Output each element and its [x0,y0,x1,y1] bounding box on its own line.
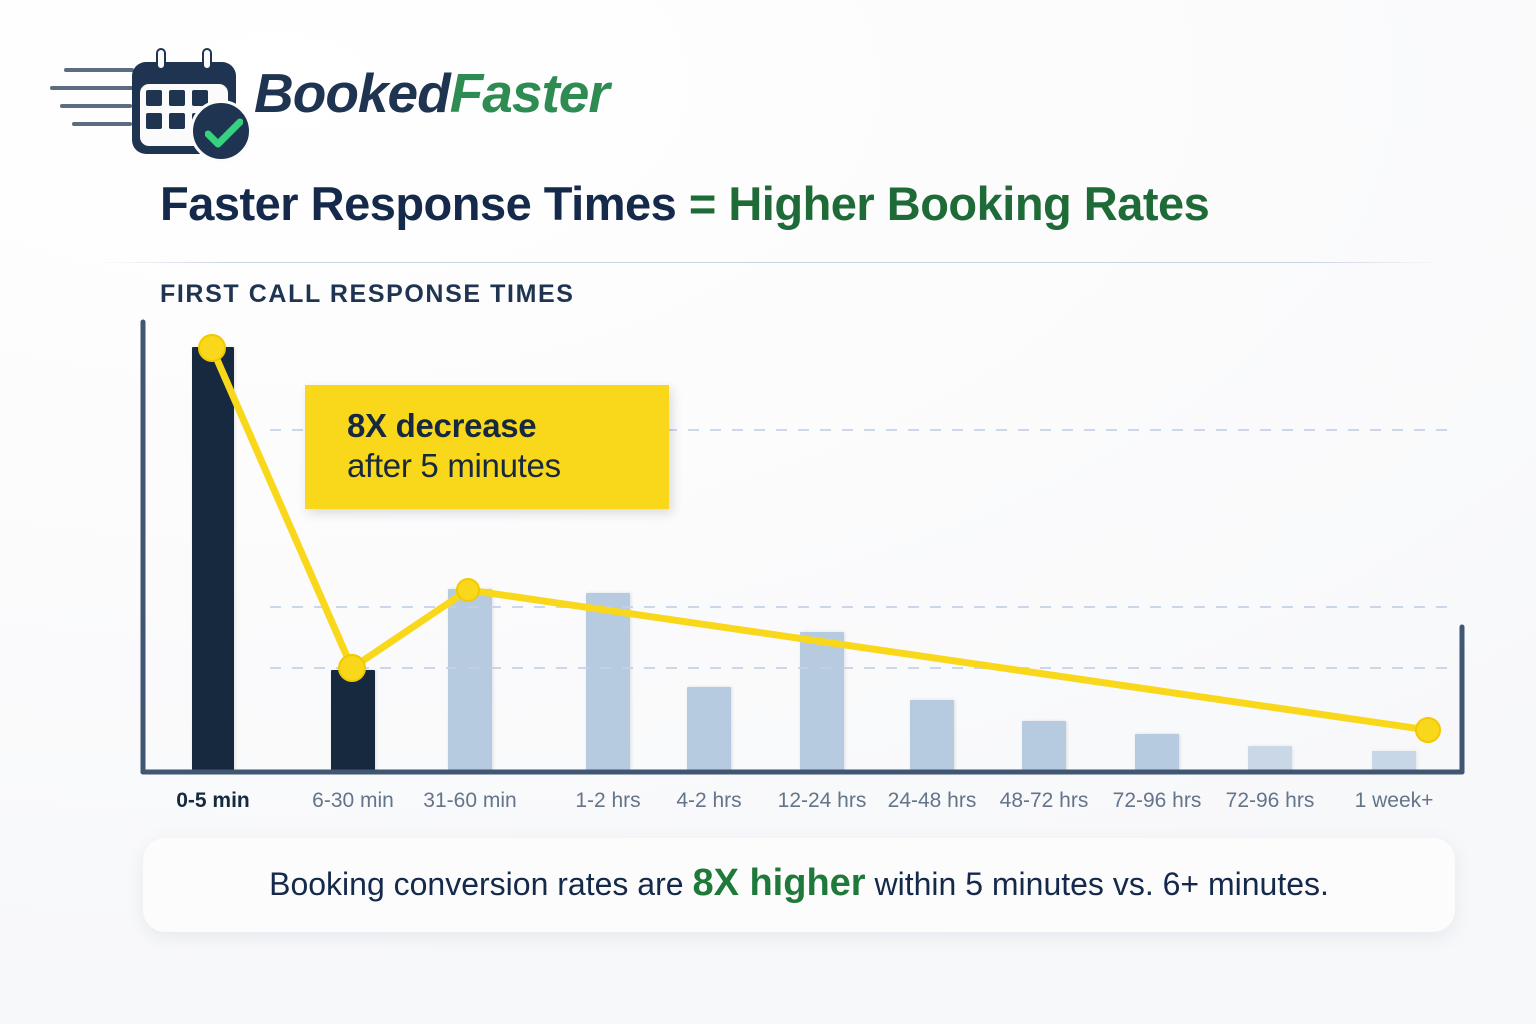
caption-highlight: 8X higher [692,862,865,904]
bar-series [0,0,1536,772]
caption-before: Booking conversion rates are [269,866,692,902]
bar-4 [586,593,630,772]
bar-10 [1248,746,1292,772]
caption-card: Booking conversion rates are 8X higher w… [143,838,1455,932]
bar-7 [910,700,954,772]
x-label-8: 48-72 hrs [1000,789,1089,813]
caption-text: Booking conversion rates are 8X higher w… [143,862,1455,905]
x-label-1: 0-5 min [176,789,250,813]
bar-2 [331,670,375,772]
x-label-2: 6-30 min [312,789,394,813]
bar-9 [1135,734,1179,772]
bar-6 [800,632,844,772]
bar-1 [192,347,234,772]
bar-5 [687,687,731,772]
x-label-5: 4-2 hrs [676,789,741,813]
x-label-6: 12-24 hrs [778,789,867,813]
x-label-7: 24-48 hrs [888,789,977,813]
callout-line-1: 8X decrease [347,407,536,445]
caption-after: within 5 minutes vs. 6+ minutes. [866,866,1329,902]
bar-3 [448,589,492,772]
x-label-4: 1-2 hrs [575,789,640,813]
x-axis-labels: 0-5 min6-30 min31-60 min1-2 hrs4-2 hrs12… [0,789,1536,821]
callout-box: 8X decrease after 5 minutes [305,385,669,509]
callout-line-2: after 5 minutes [347,447,561,485]
x-label-9: 72-96 hrs [1113,789,1202,813]
x-label-3: 31-60 min [423,789,516,813]
x-label-10: 72-96 hrs [1226,789,1315,813]
x-label-11: 1 week+ [1355,789,1434,813]
infographic-canvas: BookedFaster Faster Response Times = Hig… [0,0,1536,1024]
bar-11 [1372,751,1416,772]
bar-8 [1022,721,1066,772]
